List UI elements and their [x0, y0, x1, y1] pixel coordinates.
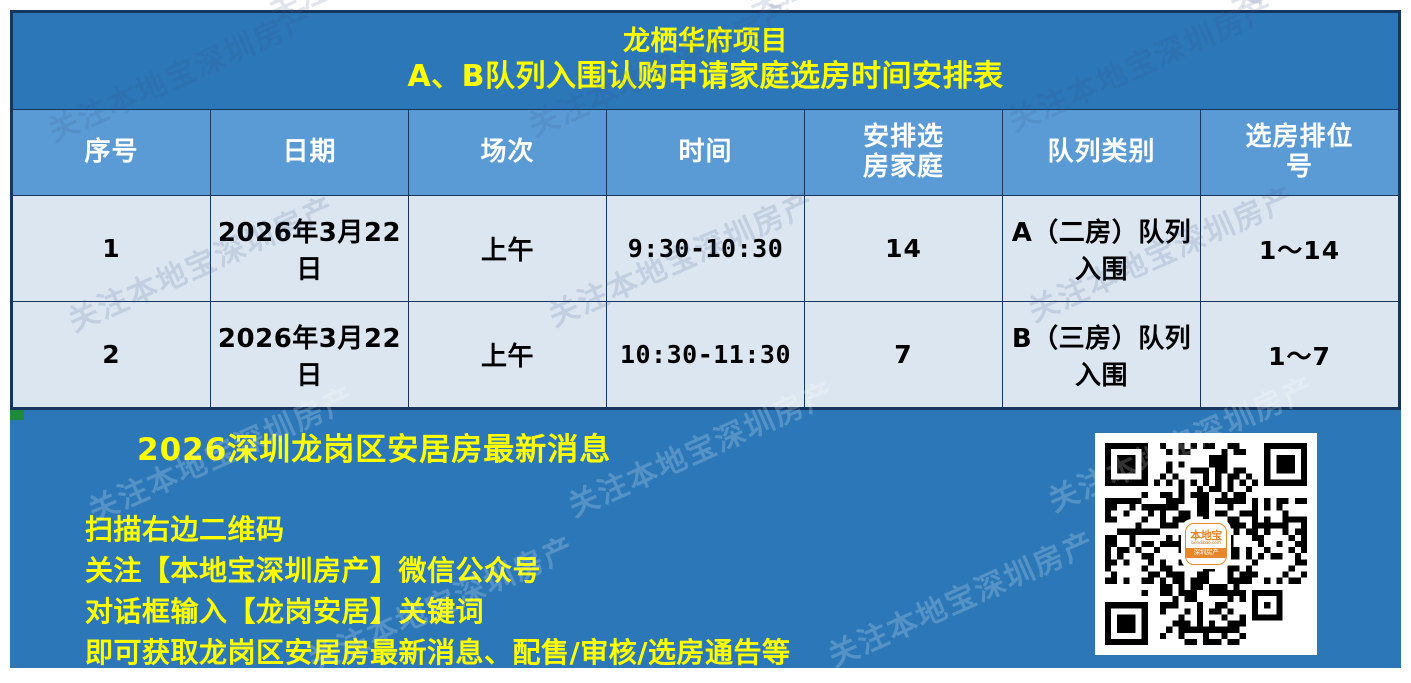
cell-queue: A（二房）队列入围: [1003, 196, 1201, 302]
column-header-seq: 序号: [13, 109, 211, 196]
schedule-table: 龙栖华府项目 A、B队列入围认购申请家庭选房时间安排表 序号 日期 场次 时间 …: [12, 12, 1399, 408]
qr-logo-subtitle: 深圳房产: [1186, 548, 1226, 558]
qr-logo-brand: 本地宝: [1190, 530, 1222, 541]
promo-line-2: 关注【本地宝深圳房产】微信公众号: [85, 551, 1065, 592]
promo-instruction-list: 扫描右边二维码 关注【本地宝深圳房产】微信公众号 对话框输入【龙岗安居】关键词 …: [85, 510, 1065, 668]
title-line-1: 龙栖华府项目: [13, 26, 1398, 59]
promo-line-3: 对话框输入【龙岗安居】关键词: [85, 592, 1065, 633]
column-header-families-line2: 房家庭: [863, 152, 944, 182]
cell-date: 2026年3月22日: [211, 302, 409, 408]
schedule-table-container: 龙栖华府项目 A、B队列入围认购申请家庭选房时间安排表 序号 日期 场次 时间 …: [10, 10, 1401, 410]
column-header-rank-line2: 号: [1286, 152, 1313, 182]
cell-rank: 1～14: [1201, 196, 1399, 302]
promo-line-1: 扫描右边二维码: [85, 510, 1065, 551]
poster-title: 龙栖华府项目 A、B队列入围认购申请家庭选房时间安排表: [13, 13, 1399, 110]
cell-time: 10:30-11:30: [607, 302, 805, 408]
title-line-2: A、B队列入围认购申请家庭选房时间安排表: [13, 59, 1398, 96]
cell-rank: 1～7: [1201, 302, 1399, 408]
cell-date: 2026年3月22日: [211, 196, 409, 302]
cell-seq: 1: [13, 196, 211, 302]
cell-families: 14: [805, 196, 1003, 302]
promo-line-4: 即可获取龙岗区安居房最新消息、配售/审核/选房通告等: [85, 633, 1065, 668]
table-header-row: 序号 日期 场次 时间 安排选 房家庭 队列类别 选房排位 号: [13, 109, 1399, 196]
cell-session: 上午: [409, 302, 607, 408]
column-header-queue: 队列类别: [1003, 109, 1201, 196]
cell-families: 7: [805, 302, 1003, 408]
qr-code-image: 本地宝 bendibao.com 深圳房产: [1105, 443, 1307, 645]
cell-time: 9:30-10:30: [607, 196, 805, 302]
table-row: 2 2026年3月22日 上午 10:30-11:30 7 B（三房）队列入围 …: [13, 302, 1399, 408]
schedule-poster: 龙栖华府项目 A、B队列入围认购申请家庭选房时间安排表 序号 日期 场次 时间 …: [0, 0, 1411, 683]
cell-session: 上午: [409, 196, 607, 302]
green-accent-mark: [10, 410, 24, 420]
cell-seq: 2: [13, 302, 211, 408]
promo-heading: 2026深圳龙岗区安居房最新消息: [137, 424, 611, 469]
column-header-session: 场次: [409, 109, 607, 196]
column-header-families-line1: 安排选: [863, 122, 944, 152]
table-row: 1 2026年3月22日 上午 9:30-10:30 14 A（二房）队列入围 …: [13, 196, 1399, 302]
table-title-row: 龙栖华府项目 A、B队列入围认购申请家庭选房时间安排表: [13, 13, 1399, 110]
qr-logo-badge: 本地宝 bendibao.com 深圳房产: [1185, 523, 1227, 565]
cell-queue: B（三房）队列入围: [1003, 302, 1201, 408]
qr-code-box[interactable]: 本地宝 bendibao.com 深圳房产: [1095, 433, 1317, 655]
column-header-time: 时间: [607, 109, 805, 196]
column-header-rank-line1: 选房排位: [1245, 122, 1353, 152]
column-header-date: 日期: [211, 109, 409, 196]
column-header-families: 安排选 房家庭: [805, 109, 1003, 196]
column-header-rank: 选房排位 号: [1201, 109, 1399, 196]
qr-center-logo: 本地宝 bendibao.com 深圳房产: [1181, 519, 1231, 569]
promo-banner: 2026深圳龙岗区安居房最新消息 扫描右边二维码 关注【本地宝深圳房产】微信公众…: [10, 410, 1401, 668]
